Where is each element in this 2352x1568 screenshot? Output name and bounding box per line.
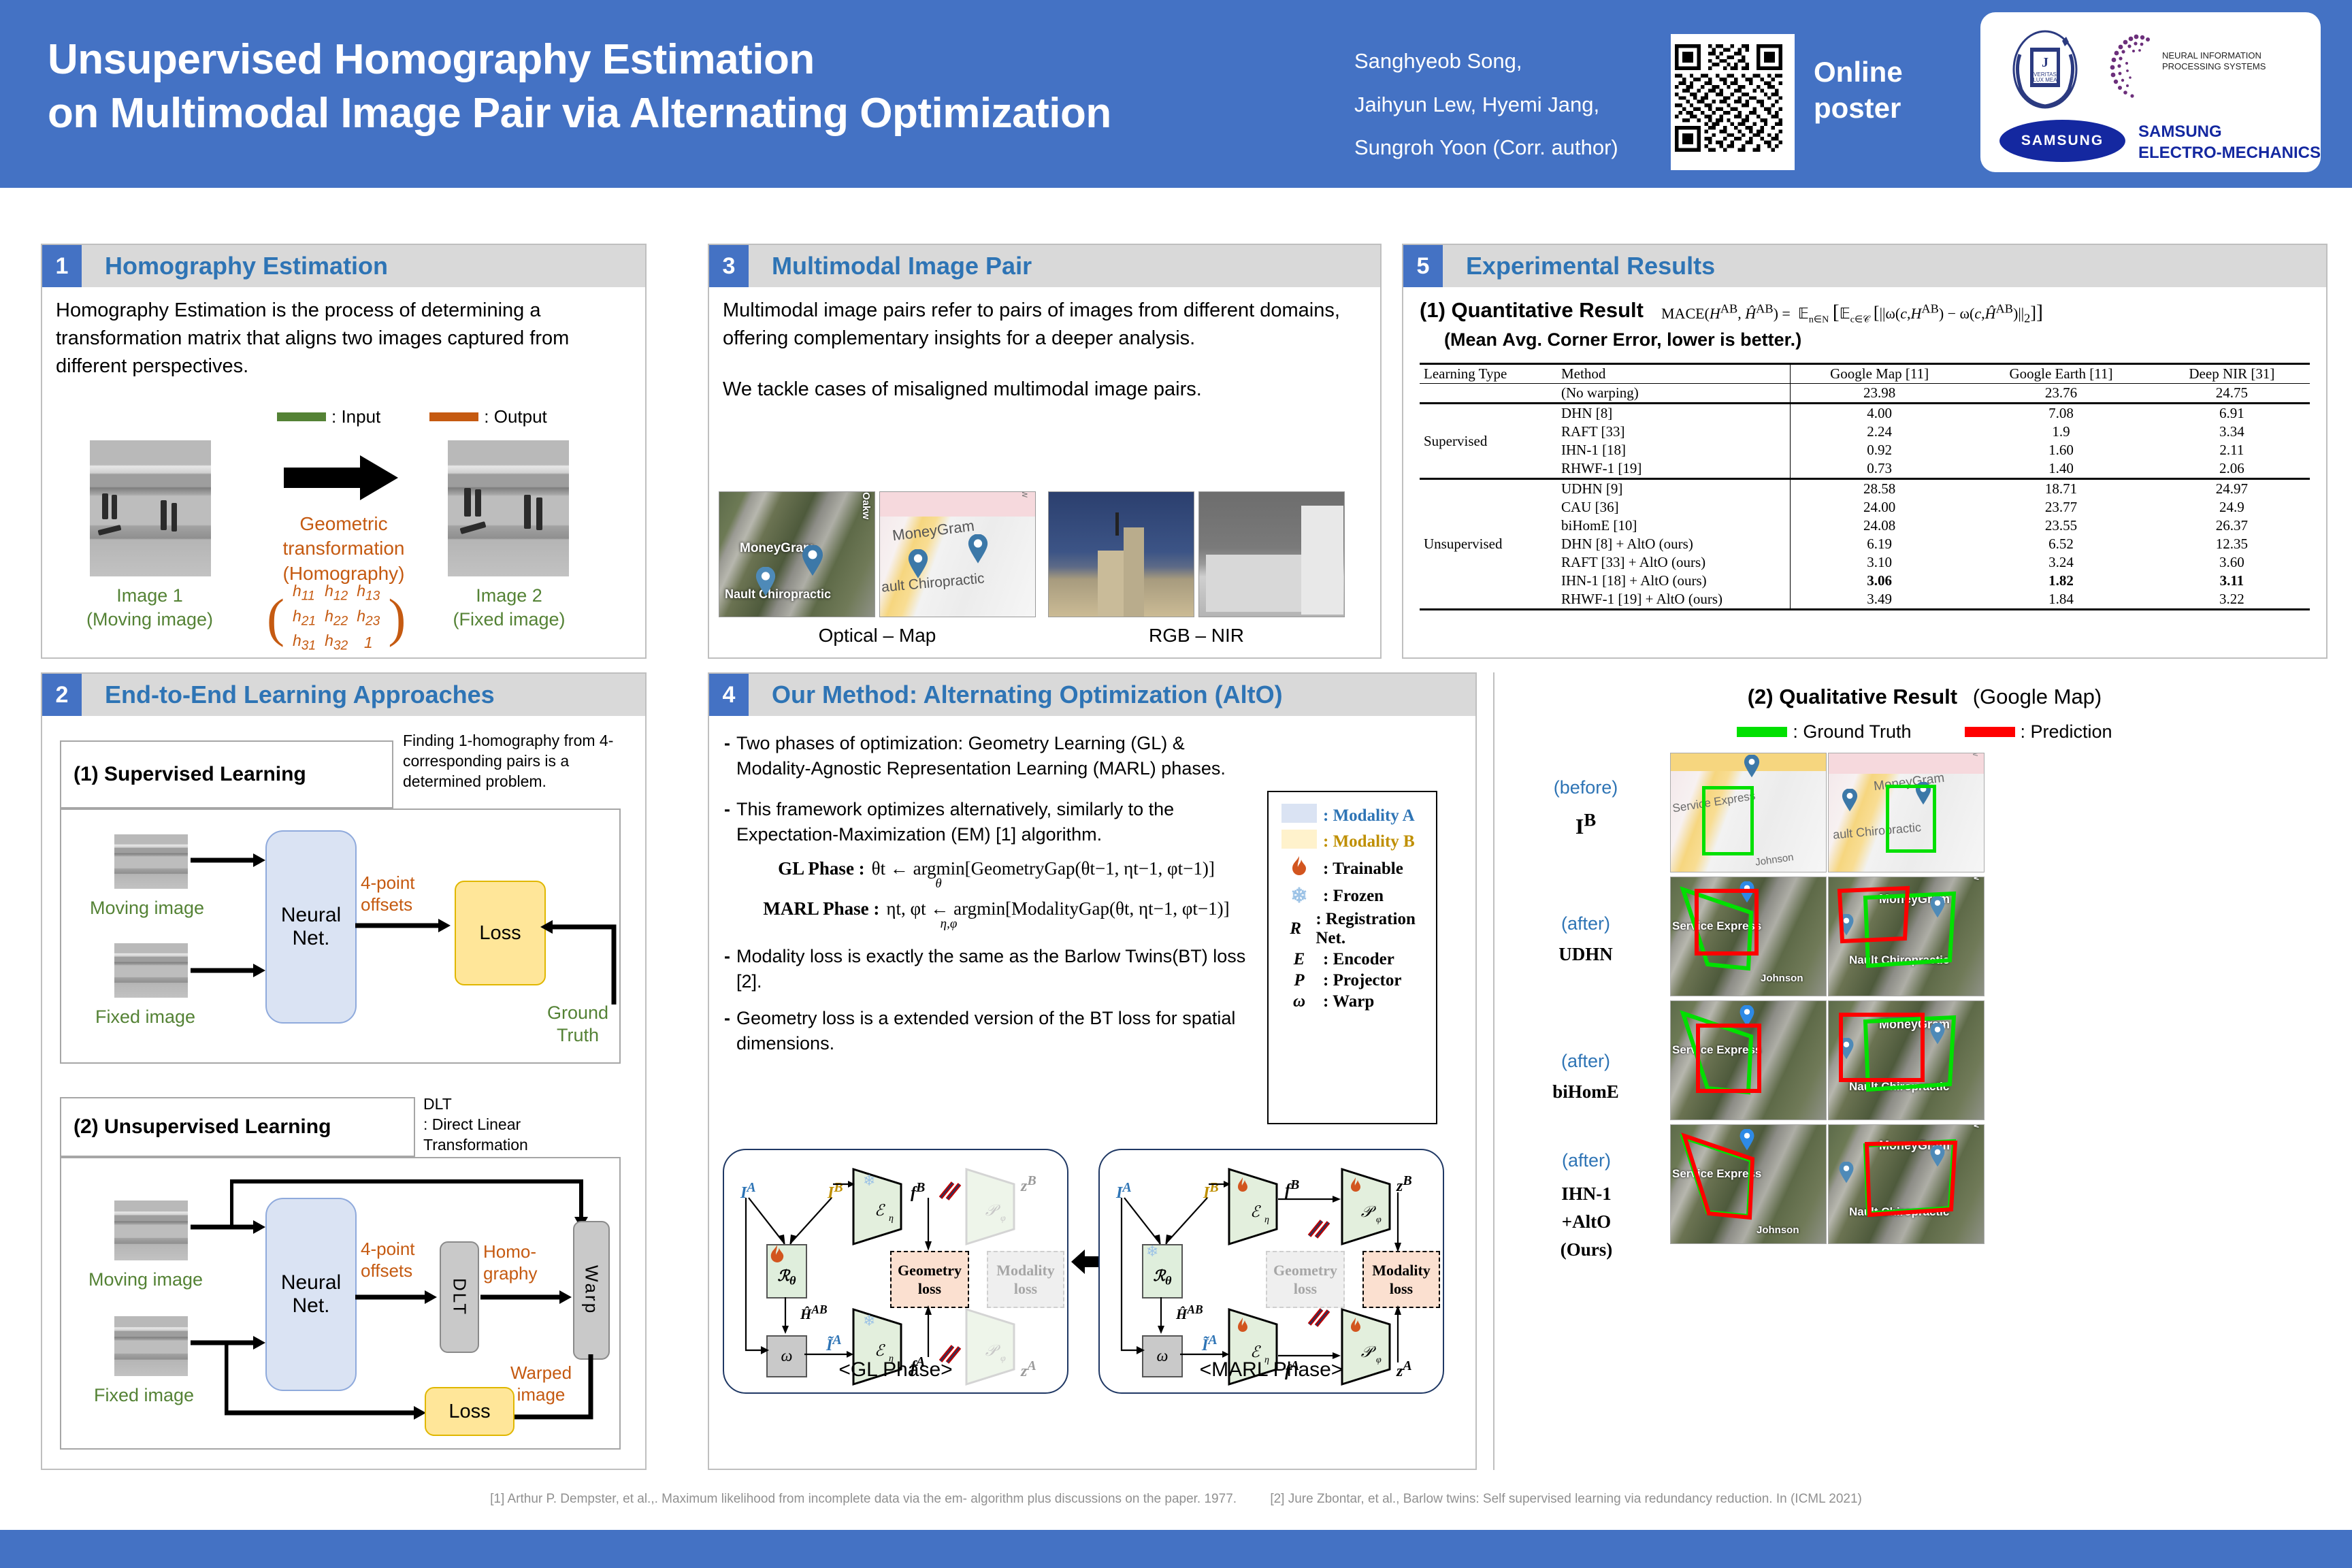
reference-2: [2] Jure Zbontar, et al., Barlow twins: … xyxy=(1270,1492,1862,1506)
legend-encoder-label: : Encoder xyxy=(1323,950,1394,969)
section-3-paragraph-2: We tackle cases of misaligned multimodal… xyxy=(723,376,1356,404)
section-5-title: Experimental Results xyxy=(1466,252,1715,280)
legend-frozen-label: : Frozen xyxy=(1323,887,1384,906)
gl-encoder-B-frozen: ℰ η ❄ xyxy=(851,1166,905,1247)
neurips-line-1: NEURAL INFORMATION xyxy=(2162,50,2266,61)
output-legend-label: : Output xyxy=(484,406,547,427)
section-4-number: 4 xyxy=(709,674,749,716)
online-poster-line-2: poster xyxy=(1814,91,1903,127)
svg-text:J: J xyxy=(2042,55,2048,70)
gl-zB-label: zB xyxy=(1021,1173,1036,1196)
four-point-offsets-label-unsup: 4-point offsets xyxy=(361,1239,442,1281)
marl-arrow-zB-to-modloss xyxy=(1391,1192,1406,1255)
multimodal-caption-2: RGB – NIR xyxy=(1048,625,1345,647)
ground-truth-line-1: Ground xyxy=(540,1002,615,1024)
section-end-to-end-learning: 2 End-to-End Learning Approaches (1) Sup… xyxy=(41,672,647,1470)
qual-row-2-prefix: (after) xyxy=(1518,912,1654,936)
cell-google-map: 3.10 xyxy=(1791,553,1969,572)
matrix-cell: h31 xyxy=(292,631,316,655)
svg-text:φ: φ xyxy=(1000,1213,1006,1224)
online-poster-line-1: Online xyxy=(1814,54,1903,91)
image-2-caption: Image 2 (Fixed image) xyxy=(427,584,591,632)
marl-modality-loss-box: Modality loss xyxy=(1362,1251,1440,1308)
moving-image-thumb-sup xyxy=(114,834,188,889)
section-our-method: 4 Our Method: Alternating Optimization (… xyxy=(708,672,1477,1470)
marl-encoder-B-trainable: ℰ η xyxy=(1226,1166,1281,1247)
rgb-building-image xyxy=(1048,491,1194,617)
arrow-gt-to-loss-sup xyxy=(538,917,619,1006)
map-label-nault: Nault Chiropractic xyxy=(725,587,831,602)
matrix-cell: h11 xyxy=(292,581,316,605)
cell-method: IHN-1 [18] + AltO (ours) xyxy=(1557,572,1791,590)
map-label-oakw-2: Oakw xyxy=(1020,491,1031,497)
ground-truth-bbox xyxy=(1702,786,1754,855)
map-pin-icon xyxy=(907,549,929,579)
cell-deep-nir: 3.11 xyxy=(2154,572,2310,590)
output-color-swatch xyxy=(429,412,478,421)
cell-group-unsupervised: Unsupervised xyxy=(1420,479,1557,610)
qual-udhn-left-boxes xyxy=(1671,877,1827,996)
legend-warp: ω : Warp xyxy=(1275,992,1429,1011)
loss-box-sup: Loss xyxy=(455,881,546,985)
ground-truth-line-2: Truth xyxy=(540,1024,615,1047)
section-5-body: (1) Quantitative Result MACE(HAB, ĤAB) =… xyxy=(1403,287,2326,657)
marl-phase-caption: <MARL Phase> xyxy=(1100,1358,1443,1382)
snu-logo-icon: J VERITAS LUX MEA xyxy=(2008,27,2082,109)
neural-net-line-2-unsup: Net. xyxy=(292,1294,329,1318)
marl-arrow-fB-to-projector xyxy=(1278,1192,1342,1206)
section-4-header: 4 Our Method: Alternating Optimization (… xyxy=(709,674,1475,716)
svg-text:❄: ❄ xyxy=(863,1312,875,1329)
mace-note: (Mean Avg. Corner Error, lower is better… xyxy=(1444,329,2310,350)
author-line-2: Jaihyun Lew, Hyemi Jang, xyxy=(1354,83,1661,127)
section-1-number: 1 xyxy=(42,245,82,287)
arrow-nn-to-loss-sup xyxy=(355,917,451,935)
cell-deep-nir: 24.97 xyxy=(2154,479,2310,499)
cell-deep-nir: 3.60 xyxy=(2154,553,2310,572)
table-row: Supervised DHN [8] 4.00 7.08 6.91 xyxy=(1420,404,2310,423)
sem-line-1: SAMSUNG xyxy=(2138,121,2321,142)
svg-text:LUX MEA: LUX MEA xyxy=(2033,77,2057,83)
arrow-fixed-to-loss xyxy=(225,1343,429,1422)
cell-method: RHWF-1 [19] + AltO (ours) xyxy=(1557,590,1791,610)
matrix-cell: h13 xyxy=(356,581,380,605)
cell-google-earth: 3.24 xyxy=(1968,553,2154,572)
samsung-electro-mechanics-text: SAMSUNG ELECTRO-MECHANICS xyxy=(2138,121,2321,163)
qual-row-label-bihome: (after) biHomE xyxy=(1518,1049,1654,1104)
dlt-note-line-1: DLT xyxy=(423,1094,627,1115)
section-multimodal-image-pair: 3 Multimodal Image Pair Multimodal image… xyxy=(708,244,1382,659)
legend-warp-label: : Warp xyxy=(1323,992,1374,1011)
gl-phase-expression: θt ← argmin[GeometryGap(θt−1, ηt−1, φt−1… xyxy=(872,858,1215,879)
prediction-color-swatch xyxy=(1965,727,2015,737)
matrix-cell: 1 xyxy=(356,631,380,655)
cell-method: (No warping) xyxy=(1557,384,1791,404)
homography-line-2: graphy xyxy=(483,1263,565,1285)
legend-modality-a: : Modality A xyxy=(1275,804,1429,828)
qual-row-3-prefix: (after) xyxy=(1518,1049,1654,1073)
section-homography-estimation: 1 Homography Estimation Homography Estim… xyxy=(41,244,647,659)
gl-modality-loss-box: Modality loss xyxy=(987,1251,1064,1308)
legend-trainable-label: : Trainable xyxy=(1323,860,1403,879)
section-5-header: 5 Experimental Results xyxy=(1403,245,2326,287)
marl-geometry-loss-box: Geometry loss xyxy=(1266,1251,1345,1308)
supervised-learning-label-box: (1) Supervised Learning xyxy=(60,740,393,808)
gl-projector-B-inactive: 𝒫 φ xyxy=(964,1166,1018,1247)
supervised-note: Finding 1-homography from 4-correspondin… xyxy=(403,731,621,792)
cell-google-map: 2.24 xyxy=(1791,423,1969,441)
online-poster-label: Online poster xyxy=(1814,54,1903,126)
qual-row-1-prefix: (before) xyxy=(1518,776,1654,800)
section-3-paragraph-1: Multimodal image pairs refer to pairs of… xyxy=(723,297,1356,353)
four-point-line-1-unsup: 4-point xyxy=(361,1239,442,1260)
input-color-swatch xyxy=(277,412,326,421)
poster-root: Unsupervised Homography Estimation on Mu… xyxy=(0,0,2352,1568)
cell-google-map: 0.92 xyxy=(1791,441,1969,459)
marl-phase-equation: MARL Phase : ηt, φt ← argmin[ModalityGap… xyxy=(724,898,1269,919)
legend-encoder: E : Encoder xyxy=(1275,950,1429,969)
fixed-image-label-unsup: Fixed image xyxy=(94,1384,194,1407)
moving-image-label-unsup: Moving image xyxy=(88,1269,203,1291)
author-line-1: Sanghyeob Song, xyxy=(1354,39,1661,83)
method-bullet-1: -Two phases of optimization: Geometry Le… xyxy=(724,731,1262,781)
samsung-oval: SAMSUNG xyxy=(1999,120,2125,162)
gl-skip-IA-to-warp xyxy=(743,1194,773,1360)
svg-text:η: η xyxy=(889,1213,894,1224)
section-2-title: End-to-End Learning Approaches xyxy=(105,681,495,709)
homography-label-unsup: Homo- graphy xyxy=(483,1241,565,1284)
map-pin-icon xyxy=(1743,755,1761,778)
cell-method: RAFT [33] + AltO (ours) xyxy=(1557,553,1791,572)
qual-img-alto-left: Service Express Johnson xyxy=(1670,1124,1827,1244)
qualitative-legend: : Ground Truth : Prediction xyxy=(1497,721,2352,742)
neurips-text: NEURAL INFORMATION PROCESSING SYSTEMS xyxy=(2162,50,2266,73)
cell-google-earth: 23.55 xyxy=(1968,517,2154,535)
modality-a-swatch xyxy=(1275,804,1323,828)
four-point-offsets-label-sup: 4-point offsets xyxy=(361,872,449,915)
homography-matrix: ( h11h12h13 h21h22h23 h31h321 ) xyxy=(267,580,406,656)
cell-deep-nir: 3.34 xyxy=(2154,423,2310,441)
neurips-line-2: PROCESSING SYSTEMS xyxy=(2162,61,2266,72)
image-1-caption: Image 1 (Moving image) xyxy=(68,584,231,632)
section-3-title: Multimodal Image Pair xyxy=(772,252,1032,280)
qual-img-udhn-right: MoneyGram Nault Chiropractic Oakw xyxy=(1828,877,1984,996)
flame-icon xyxy=(1275,855,1323,882)
arrow-fixed-to-nn-sup xyxy=(191,961,265,981)
io-legend: : Input : Output xyxy=(277,406,547,427)
gl-phase-caption: <GL Phase> xyxy=(724,1358,1067,1382)
cell-google-earth: 1.82 xyxy=(1968,572,2154,590)
arrow-dlt-to-warp xyxy=(480,1289,572,1307)
gl-arrow-fB-to-geomloss xyxy=(921,1198,936,1254)
gl-phase-equation: GL Phase : θt ← argmin[GeometryGap(θt−1,… xyxy=(724,858,1269,879)
marl-projector-B-trainable: 𝒫 φ xyxy=(1339,1166,1394,1247)
svg-text:η: η xyxy=(1264,1215,1269,1225)
gl-arrow-fA-to-geomloss xyxy=(921,1304,936,1358)
marl-arrow-R-to-warp xyxy=(1157,1297,1166,1335)
four-point-line-2-unsup: offsets xyxy=(361,1260,442,1282)
cell-method: DHN [8] xyxy=(1557,404,1791,423)
nir-building-image xyxy=(1198,491,1345,617)
image-2-thumbnail xyxy=(448,440,569,576)
qual-alto-right-boxes xyxy=(1829,1125,1984,1244)
qual-img-alto-right: MoneyGram Nault Chiropractic Oakw xyxy=(1828,1124,1984,1244)
map-pin-icon xyxy=(755,567,777,597)
quantitative-result-title: (1) Quantitative Result xyxy=(1420,298,1644,323)
qual-row-4-prefix: (after) xyxy=(1515,1149,1658,1173)
legend-frozen: ❄ : Frozen xyxy=(1275,884,1429,908)
legend-modality-b-label: : Modality B xyxy=(1323,832,1415,851)
gl-blocked-B-icon xyxy=(935,1179,962,1202)
cell-google-map: 24.08 xyxy=(1791,517,1969,535)
beach-scene-1 xyxy=(90,440,211,576)
multimodal-caption-1: Optical – Map xyxy=(719,625,1036,647)
fixed-image-label-sup: Fixed image xyxy=(95,1006,195,1028)
qual-label-oakw: Oakw xyxy=(1971,753,1981,756)
cell-deep-nir: 3.22 xyxy=(2154,590,2310,610)
legend-modality-b: : Modality B xyxy=(1275,830,1429,853)
cell-deep-nir: 24.9 xyxy=(2154,498,2310,517)
ground-truth-label-sup: Ground Truth xyxy=(540,1002,615,1047)
image-2-caption-line-2: (Fixed image) xyxy=(427,608,591,632)
svg-text:ℰ: ℰ xyxy=(875,1202,885,1219)
cell-google-map: 3.49 xyxy=(1791,590,1969,610)
cell-google-map: 28.58 xyxy=(1791,479,1969,499)
section-2-header: 2 End-to-End Learning Approaches xyxy=(42,674,645,716)
snowflake-icon: ❄ xyxy=(1275,884,1323,908)
qr-code-icon[interactable] xyxy=(1671,34,1795,170)
sem-line-2: ELECTRO-MECHANICS xyxy=(2138,142,2321,163)
qualitative-result-panel: (2) Qualitative Result (Google Map) : Gr… xyxy=(1497,672,2352,1470)
qual-row-3-title: biHomE xyxy=(1552,1081,1619,1102)
marl-R-label: ℛθ xyxy=(1143,1267,1181,1288)
marl-arrow-zA-to-modloss xyxy=(1391,1304,1406,1365)
qr-code-svg xyxy=(1675,38,1782,158)
cell-deep-nir: 26.37 xyxy=(2154,517,2310,535)
cell-google-map: 3.06 xyxy=(1791,572,1969,590)
col-header-google-map: Google Map [11] xyxy=(1791,364,1969,384)
beach-scene-2 xyxy=(448,440,569,576)
supervised-diagram: Moving image Fixed image Neural Net. 4-p… xyxy=(60,808,621,1064)
qual-img-bihome-right: MoneyGram Nault Chiropractic xyxy=(1828,1000,1984,1120)
marl-H-hat-label: ĤAB xyxy=(1176,1303,1203,1323)
cell-google-earth: 1.9 xyxy=(1968,423,2154,441)
qual-row-4-title-2: +AltO xyxy=(1562,1211,1611,1232)
cell-google-earth: 6.52 xyxy=(1968,535,2154,553)
cell-method: DHN [8] + AltO (ours) xyxy=(1557,535,1791,553)
title-line-1: Unsupervised Homography Estimation xyxy=(48,33,1341,86)
registration-net-symbol: R xyxy=(1275,919,1316,938)
neural-net-line-1-unsup: Neural xyxy=(281,1271,341,1294)
col-header-google-earth: Google Earth [11] xyxy=(1968,364,2154,384)
neurips-logo-icon: NEURAL INFORMATION PROCESSING SYSTEMS xyxy=(2106,30,2283,105)
warp-symbol: ω xyxy=(1275,992,1323,1011)
qual-img-before-right: MoneyGram ault Chiropractic Oakw xyxy=(1828,753,1984,872)
qualitative-title: (2) Qualitative Result (Google Map) xyxy=(1497,685,2352,709)
qual-row-label-before: (before) IB xyxy=(1518,776,1654,840)
table-row: Unsupervised UDHN [9] 28.58 18.71 24.97 xyxy=(1420,479,2310,499)
arrow-nn-to-dlt xyxy=(355,1289,437,1307)
prediction-legend-label: : Prediction xyxy=(2021,721,2112,742)
matrix-cell: h21 xyxy=(292,606,316,630)
matrix-cell: h23 xyxy=(356,606,380,630)
method-bullet-1-text: Two phases of optimization: Geometry Lea… xyxy=(736,731,1262,781)
legend-modality-a-label: : Modality A xyxy=(1323,806,1415,826)
cell-google-map: 0.73 xyxy=(1791,459,1969,479)
neural-net-box-sup: Neural Net. xyxy=(265,830,357,1024)
fixed-image-thumb-unsup xyxy=(114,1316,188,1376)
ground-truth-color-swatch xyxy=(1737,727,1787,737)
neural-net-line-1-sup: Neural xyxy=(281,904,341,927)
cell-deep-nir: 2.11 xyxy=(2154,441,2310,459)
method-bullet-3-text: Modality loss is exactly the same as the… xyxy=(736,944,1269,994)
svg-text:ℰ: ℰ xyxy=(875,1342,885,1359)
marl-phase-expression: ηt, φt ← argmin[ModalityGap(θt, ηt−1, φt… xyxy=(886,898,1229,919)
method-bullet-4: -Geometry loss is a extended version of … xyxy=(724,1006,1269,1056)
matrix-row: h31h321 xyxy=(292,631,380,655)
section-4-title: Our Method: Alternating Optimization (Al… xyxy=(772,681,1283,709)
loss-box-unsup: Loss xyxy=(425,1387,514,1436)
phase-equations: GL Phase : θt ← argmin[GeometryGap(θt−1,… xyxy=(724,858,1269,932)
qual-row-1-title: IB xyxy=(1575,814,1596,838)
gl-R-label: ℛθ xyxy=(768,1267,806,1288)
footer-bar xyxy=(0,1530,2352,1568)
map-tile-image: MoneyGram ault Chiropractic Oakw xyxy=(879,491,1036,617)
legend-projector: P : Projector xyxy=(1275,971,1429,990)
unsupervised-learning-label: (2) Unsupervised Learning xyxy=(73,1115,331,1139)
results-header-row: Learning Type Method Google Map [11] Goo… xyxy=(1420,364,2310,384)
section-1-body: Homography Estimation is the process of … xyxy=(42,287,645,657)
qual-row-2-title: UDHN xyxy=(1558,944,1613,964)
cell-google-earth: 1.40 xyxy=(1968,459,2154,479)
title-line-2: on Multimodal Image Pair via Alternating… xyxy=(48,86,1341,140)
cell-google-earth: 23.77 xyxy=(1968,498,2154,517)
method-bullet-3: -Modality loss is exactly the same as th… xyxy=(724,944,1269,994)
moving-image-thumb-unsup xyxy=(114,1200,188,1260)
qual-row-label-udhn: (after) UDHN xyxy=(1518,912,1654,966)
method-bullet-4-text: Geometry loss is a extended version of t… xyxy=(736,1006,1269,1056)
cell-group xyxy=(1420,384,1557,404)
section-2-number: 2 xyxy=(42,674,82,716)
dlt-box: DLT xyxy=(440,1241,479,1353)
cell-deep-nir: 24.75 xyxy=(2154,384,2310,404)
homography-line-1: Homo- xyxy=(483,1241,565,1263)
qual-bihome-left-boxes xyxy=(1671,1001,1827,1120)
samsung-logo-icon: SAMSUNG xyxy=(1999,120,2129,163)
marl-arrow-IB-to-encoder xyxy=(1209,1177,1232,1191)
col-header-learning-type: Learning Type xyxy=(1420,364,1557,384)
results-table-head: Learning Type Method Google Map [11] Goo… xyxy=(1420,364,2310,384)
matrix-cell: h12 xyxy=(324,581,348,605)
projector-symbol: P xyxy=(1275,971,1323,990)
image-1-thumbnail xyxy=(90,440,211,576)
section-3-number: 3 xyxy=(709,245,749,287)
arrow-moving-to-nn-sup xyxy=(191,851,265,871)
method-bullet-2-text: This framework optimizes alternatively, … xyxy=(736,797,1262,847)
image-1-caption-line-2: (Moving image) xyxy=(68,608,231,632)
qual-img-before-left: Service Express Johnson xyxy=(1670,753,1827,872)
map-label-oakw-1: Oakw xyxy=(860,492,872,519)
author-list: Sanghyeob Song, Jaihyun Lew, Hyemi Jang,… xyxy=(1354,39,1661,169)
four-point-line-2-sup: offsets xyxy=(361,894,449,916)
gl-geometry-loss-box: Geometry loss xyxy=(890,1251,969,1308)
cell-method: biHomE [10] xyxy=(1557,517,1791,535)
cell-google-earth: 7.08 xyxy=(1968,404,2154,423)
qual-img-udhn-left: Service Express Johnson xyxy=(1670,877,1827,996)
cell-google-map: 23.98 xyxy=(1791,384,1969,404)
cell-deep-nir: 6.91 xyxy=(2154,404,2310,423)
qualitative-title-rest: (Google Map) xyxy=(1973,685,2102,708)
image-1-caption-line-1: Image 1 xyxy=(68,584,231,608)
qual-bihome-right-boxes xyxy=(1829,1001,1984,1120)
cell-deep-nir: 12.35 xyxy=(2154,535,2310,553)
cell-method: RHWF-1 [19] xyxy=(1557,459,1791,479)
reference-1: [1] Arthur P. Dempster, et al.,. Maximum… xyxy=(490,1492,1237,1506)
ground-truth-legend-label: : Ground Truth xyxy=(1793,721,1911,742)
section-2-body: (1) Supervised Learning Finding 1-homogr… xyxy=(42,716,645,1469)
flame-icon-svg xyxy=(1290,855,1308,877)
cell-method: IHN-1 [18] xyxy=(1557,441,1791,459)
marl-blocked-B-icon xyxy=(1304,1217,1331,1240)
marl-phase-diagram: IA IB ❄ ℛθ ĤAB ω ĨA ℰ xyxy=(1098,1149,1444,1394)
author-line-3: Sungroh Yoon (Corr. author) xyxy=(1354,126,1661,169)
geometric-transformation-label: Geometric transformation (Homography) xyxy=(259,512,429,586)
neurips-dots-svg xyxy=(2106,30,2161,101)
qualitative-title-bold: (2) Qualitative Result xyxy=(1748,685,1957,708)
table-row: (No warping) 23.98 23.76 24.75 xyxy=(1420,384,2310,404)
legend-trainable: : Trainable xyxy=(1275,855,1429,882)
quantitative-header-row: (1) Quantitative Result MACE(HAB, ĤAB) =… xyxy=(1420,298,2310,325)
section-4-body: -Two phases of optimization: Geometry Le… xyxy=(709,716,1475,1469)
qual-row-4-title-1: IHN-1 xyxy=(1561,1183,1612,1204)
method-legend: : Modality A : Modality B : Trainable ❄ … xyxy=(1267,791,1437,1124)
qual-img-bihome-left: Service Express xyxy=(1670,1000,1827,1120)
gl-H-hat-label: ĤAB xyxy=(800,1303,828,1323)
dlt-note-line-2: : Direct Linear Transformation xyxy=(423,1115,627,1156)
references: [1] Arthur P. Dempster, et al.,. Maximum… xyxy=(0,1492,2352,1507)
cell-method: CAU [36] xyxy=(1557,498,1791,517)
cell-google-earth: 23.76 xyxy=(1968,384,2154,404)
legend-projector-label: : Projector xyxy=(1323,971,1401,990)
matrix-cell: h22 xyxy=(324,606,348,630)
page-title: Unsupervised Homography Estimation on Mu… xyxy=(48,33,1341,141)
svg-text:φ: φ xyxy=(1376,1215,1382,1225)
transform-arrow-icon xyxy=(284,454,399,502)
section-experimental-results: 5 Experimental Results (1) Quantitative … xyxy=(1402,244,2327,659)
samsung-wordmark: SAMSUNG xyxy=(2021,133,2104,149)
cell-google-earth: 1.84 xyxy=(1968,590,2154,610)
map-pin-icon xyxy=(801,545,824,576)
cell-google-map: 4.00 xyxy=(1791,404,1969,423)
section-5-number: 5 xyxy=(1403,245,1443,287)
warp-box: Warp xyxy=(573,1221,610,1360)
col-header-deep-nir: Deep NIR [31] xyxy=(2154,364,2310,384)
cell-google-map: 24.00 xyxy=(1791,498,1969,517)
legend-registration-net: R : Registration Net. xyxy=(1275,910,1429,948)
unsupervised-note: DLT : Direct Linear Transformation xyxy=(423,1094,627,1156)
col-header-method: Method xyxy=(1557,364,1791,384)
homography-matrix-table: h11h12h13 h21h22h23 h31h321 xyxy=(284,580,388,656)
matrix-row: h21h22h23 xyxy=(292,606,380,630)
moving-image-label-sup: Moving image xyxy=(90,897,204,919)
gl-phase-label: GL Phase : xyxy=(778,858,865,879)
input-legend-label: : Input xyxy=(331,406,380,427)
cell-google-map: 6.19 xyxy=(1791,535,1969,553)
matrix-row: h11h12h13 xyxy=(292,581,380,605)
mace-formula: MACE(HAB, ĤAB) = 𝔼n∈N [𝔼c∈𝒞 [||ω(c,HAB) … xyxy=(1661,301,2043,325)
unsupervised-learning-label-box: (2) Unsupervised Learning xyxy=(60,1097,415,1157)
neural-net-line-2-sup: Net. xyxy=(292,927,329,950)
